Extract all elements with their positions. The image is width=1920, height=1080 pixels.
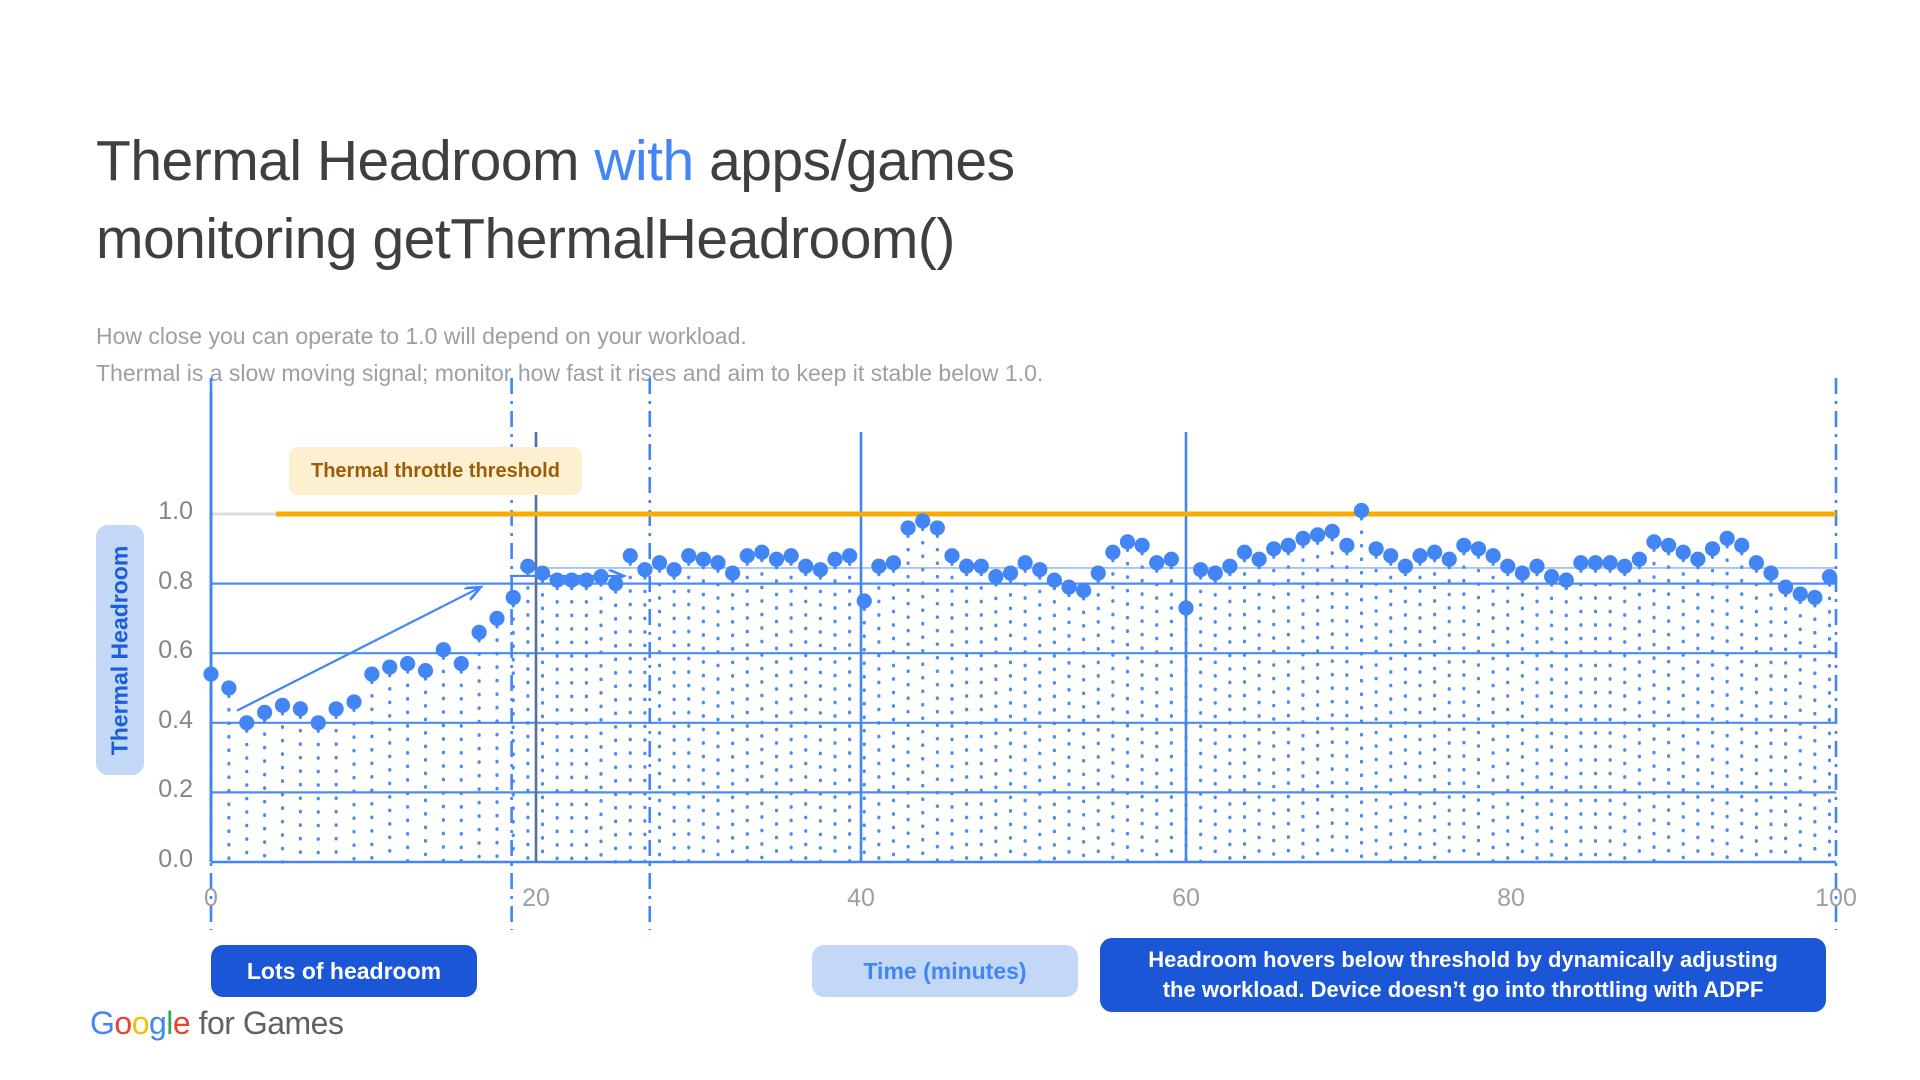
data-point xyxy=(520,559,535,574)
data-point xyxy=(608,576,623,591)
data-point xyxy=(1383,548,1398,563)
data-point xyxy=(667,562,682,577)
google-for-games-logo: Google for Games xyxy=(90,1005,343,1042)
data-point xyxy=(1354,503,1369,518)
y-tick-label-0: 0.0 xyxy=(123,845,193,874)
logo-letter-l1: l xyxy=(166,1005,173,1041)
rising-trend-arrow xyxy=(237,587,481,711)
data-point xyxy=(1529,559,1544,574)
data-point xyxy=(382,660,397,675)
data-point xyxy=(329,701,344,716)
data-point xyxy=(725,566,740,581)
data-point xyxy=(1105,545,1120,560)
data-point xyxy=(1617,559,1632,574)
data-point xyxy=(1793,586,1808,601)
data-point xyxy=(930,520,945,535)
data-point xyxy=(1208,566,1223,581)
data-point xyxy=(740,548,755,563)
data-point xyxy=(696,552,711,567)
data-point xyxy=(239,715,254,730)
data-point xyxy=(1222,559,1237,574)
data-point xyxy=(1120,534,1135,549)
data-point xyxy=(769,552,784,567)
data-point xyxy=(1032,562,1047,577)
data-point xyxy=(1339,538,1354,553)
data-point xyxy=(1310,527,1325,542)
badge-lots-of-headroom[interactable]: Lots of headroom xyxy=(211,945,477,997)
page-subtitle: How close you can operate to 1.0 will de… xyxy=(96,318,1446,392)
data-point xyxy=(652,555,667,570)
data-point xyxy=(454,656,469,671)
data-point xyxy=(1471,541,1486,556)
data-point xyxy=(1252,552,1267,567)
data-point xyxy=(1573,555,1588,570)
data-point xyxy=(346,694,361,709)
data-point xyxy=(1091,566,1106,581)
data-point xyxy=(813,562,828,577)
data-point xyxy=(798,559,813,574)
logo-letter-o1: o xyxy=(114,1005,131,1041)
data-point xyxy=(1281,538,1296,553)
data-point xyxy=(472,625,487,640)
data-point xyxy=(275,698,290,713)
badge-lots-of-headroom-label: Lots of headroom xyxy=(247,958,441,985)
x-tick-label-100: 100 xyxy=(1796,884,1876,913)
subtitle-line-1: How close you can operate to 1.0 will de… xyxy=(96,318,1446,355)
logo-letter-g1: G xyxy=(90,1005,114,1041)
data-point xyxy=(1369,541,1384,556)
data-point xyxy=(1603,555,1618,570)
data-point xyxy=(1178,600,1193,615)
data-point xyxy=(436,642,451,657)
data-point xyxy=(1018,555,1033,570)
data-point xyxy=(784,548,799,563)
data-point xyxy=(1164,552,1179,567)
stem-group xyxy=(211,519,1830,862)
data-point xyxy=(1193,562,1208,577)
data-point xyxy=(1486,548,1501,563)
x-tick-label-60: 60 xyxy=(1146,884,1226,913)
x-tick-label-40: 40 xyxy=(821,884,901,913)
data-point xyxy=(1295,531,1310,546)
x-axis-title-badge: Time (minutes) xyxy=(812,945,1078,997)
data-point xyxy=(221,680,236,695)
data-point xyxy=(901,520,916,535)
data-point xyxy=(400,656,415,671)
data-point xyxy=(506,590,521,605)
data-point xyxy=(1047,573,1062,588)
page-title: Thermal Headroom with apps/games monitor… xyxy=(96,122,1396,278)
data-point xyxy=(257,705,272,720)
data-point xyxy=(681,548,696,563)
data-point xyxy=(842,548,857,563)
data-point xyxy=(1705,541,1720,556)
data-point xyxy=(754,545,769,560)
logo-letter-e1: e xyxy=(173,1005,190,1041)
y-tick-label-0.6: 0.6 xyxy=(123,636,193,665)
data-point xyxy=(1149,555,1164,570)
threshold-label: Thermal throttle threshold xyxy=(289,447,582,495)
data-point xyxy=(988,569,1003,584)
callout-line-2: the workload. Device doesn’t go into thr… xyxy=(1163,975,1764,1005)
data-point xyxy=(579,573,594,588)
data-point xyxy=(959,559,974,574)
data-point xyxy=(1061,579,1076,594)
x-tick-label-20: 20 xyxy=(496,884,576,913)
logo-letter-o2: o xyxy=(132,1005,149,1041)
data-point xyxy=(1807,590,1822,605)
badge-callout-adpf[interactable]: Headroom hovers below threshold by dynam… xyxy=(1100,938,1826,1012)
data-point xyxy=(857,593,872,608)
data-point xyxy=(1515,566,1530,581)
data-point xyxy=(1749,555,1764,570)
data-point xyxy=(974,559,989,574)
data-point xyxy=(1266,541,1281,556)
data-point xyxy=(1720,531,1735,546)
data-point xyxy=(489,611,504,626)
data-point xyxy=(593,569,608,584)
data-point xyxy=(1412,548,1427,563)
data-point xyxy=(1734,538,1749,553)
data-point xyxy=(293,701,308,716)
data-point xyxy=(1559,573,1574,588)
data-point xyxy=(418,663,433,678)
logo-suffix: for Games xyxy=(190,1005,343,1041)
data-point xyxy=(623,548,638,563)
title-accent-with: with xyxy=(594,129,693,193)
data-point xyxy=(1763,566,1778,581)
data-point-group xyxy=(203,503,1837,730)
data-point xyxy=(710,555,725,570)
data-point xyxy=(311,715,326,730)
data-point xyxy=(1778,579,1793,594)
data-point xyxy=(1690,552,1705,567)
y-tick-label-0.4: 0.4 xyxy=(123,706,193,735)
data-point xyxy=(1456,538,1471,553)
x-axis-title-label: Time (minutes) xyxy=(863,958,1026,985)
data-point xyxy=(1442,552,1457,567)
data-point xyxy=(1544,569,1559,584)
title-line2: monitoring getThermalHeadroom() xyxy=(96,207,955,271)
data-point xyxy=(1632,552,1647,567)
data-point xyxy=(1237,545,1252,560)
subtitle-line-2: Thermal is a slow moving signal; monitor… xyxy=(96,355,1446,392)
y-tick-label-0.8: 0.8 xyxy=(123,567,193,596)
data-point xyxy=(364,666,379,681)
logo-letter-g2: g xyxy=(149,1005,166,1041)
data-point xyxy=(886,555,901,570)
data-point xyxy=(1661,538,1676,553)
data-point xyxy=(1676,545,1691,560)
title-part2: apps/games xyxy=(694,129,1015,193)
data-point xyxy=(1325,524,1340,539)
data-point xyxy=(637,562,652,577)
data-point xyxy=(1822,569,1837,584)
x-tick-label-0: 0 xyxy=(171,884,251,913)
threshold-label-text: Thermal throttle threshold xyxy=(311,460,560,483)
data-point xyxy=(1646,534,1661,549)
data-point xyxy=(827,552,842,567)
data-point xyxy=(550,573,565,588)
data-point xyxy=(1500,559,1515,574)
data-point xyxy=(1135,538,1150,553)
x-tick-label-80: 80 xyxy=(1471,884,1551,913)
data-point xyxy=(944,548,959,563)
data-point xyxy=(1003,566,1018,581)
callout-line-1: Headroom hovers below threshold by dynam… xyxy=(1148,945,1778,975)
data-point xyxy=(1398,559,1413,574)
data-point xyxy=(535,566,550,581)
data-point xyxy=(915,513,930,528)
data-point xyxy=(203,666,218,681)
data-point xyxy=(1076,583,1091,598)
data-point xyxy=(564,573,579,588)
data-point xyxy=(871,559,886,574)
data-point xyxy=(1427,545,1442,560)
title-part1: Thermal Headroom xyxy=(96,129,594,193)
data-point xyxy=(1588,555,1603,570)
y-tick-label-0.2: 0.2 xyxy=(123,775,193,804)
y-tick-label-1: 1.0 xyxy=(123,497,193,526)
